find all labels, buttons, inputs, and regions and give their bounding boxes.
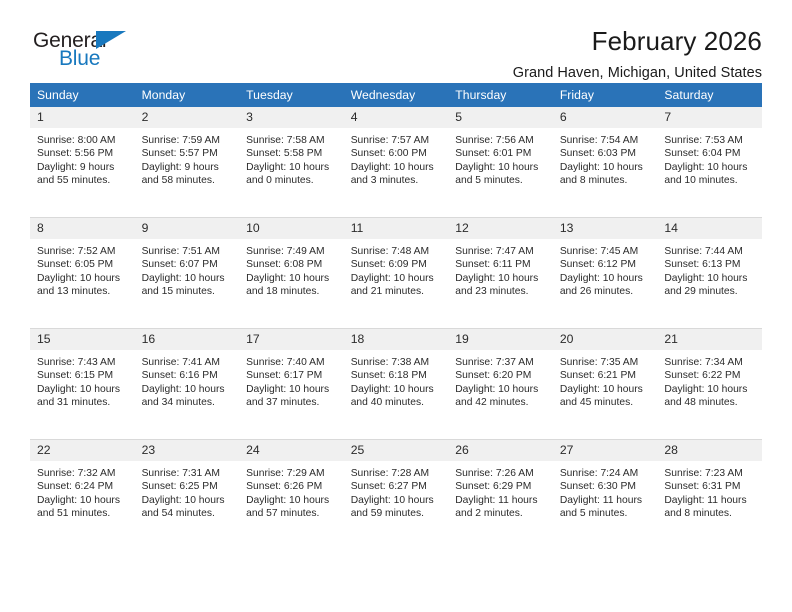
daylight-duration: Daylight: 10 hours and 26 minutes.	[560, 272, 652, 299]
day-number: 21	[657, 329, 762, 350]
day-details: Sunrise: 7:45 AM Sunset: 6:12 PM Dayligh…	[553, 239, 658, 298]
daylight-duration: Daylight: 9 hours and 55 minutes.	[37, 161, 129, 188]
day-cell[interactable]: 2 Sunrise: 7:59 AM Sunset: 5:57 PM Dayli…	[135, 107, 240, 218]
daylight-duration: Daylight: 10 hours and 29 minutes.	[664, 272, 756, 299]
sunset-time: Sunset: 6:29 PM	[455, 480, 547, 493]
day-details: Sunrise: 7:48 AM Sunset: 6:09 PM Dayligh…	[344, 239, 449, 298]
day-number: 13	[553, 218, 658, 239]
daylight-duration: Daylight: 10 hours and 37 minutes.	[246, 383, 338, 410]
day-details: Sunrise: 7:32 AM Sunset: 6:24 PM Dayligh…	[30, 461, 135, 520]
day-cell[interactable]: 6 Sunrise: 7:54 AM Sunset: 6:03 PM Dayli…	[553, 107, 658, 218]
daylight-duration: Daylight: 10 hours and 54 minutes.	[142, 494, 234, 521]
day-details: Sunrise: 7:29 AM Sunset: 6:26 PM Dayligh…	[239, 461, 344, 520]
day-details: Sunrise: 7:54 AM Sunset: 6:03 PM Dayligh…	[553, 128, 658, 187]
day-number: 9	[135, 218, 240, 239]
day-cell[interactable]: 18 Sunrise: 7:38 AM Sunset: 6:18 PM Dayl…	[344, 329, 449, 440]
day-number: 2	[135, 107, 240, 128]
day-details: Sunrise: 7:40 AM Sunset: 6:17 PM Dayligh…	[239, 350, 344, 409]
sunrise-time: Sunrise: 7:56 AM	[455, 134, 547, 147]
day-cell[interactable]: 4 Sunrise: 7:57 AM Sunset: 6:00 PM Dayli…	[344, 107, 449, 218]
sunset-time: Sunset: 6:22 PM	[664, 369, 756, 382]
sunrise-time: Sunrise: 7:43 AM	[37, 356, 129, 369]
day-number: 23	[135, 440, 240, 461]
sunset-time: Sunset: 6:20 PM	[455, 369, 547, 382]
day-details: Sunrise: 7:31 AM Sunset: 6:25 PM Dayligh…	[135, 461, 240, 520]
daylight-duration: Daylight: 10 hours and 10 minutes.	[664, 161, 756, 188]
sunset-time: Sunset: 6:15 PM	[37, 369, 129, 382]
day-cell[interactable]: 28 Sunrise: 7:23 AM Sunset: 6:31 PM Dayl…	[657, 440, 762, 551]
day-cell[interactable]: 13 Sunrise: 7:45 AM Sunset: 6:12 PM Dayl…	[553, 218, 658, 329]
day-cell[interactable]: 15 Sunrise: 7:43 AM Sunset: 6:15 PM Dayl…	[30, 329, 135, 440]
sunrise-time: Sunrise: 7:45 AM	[560, 245, 652, 258]
day-number: 16	[135, 329, 240, 350]
day-details: Sunrise: 7:44 AM Sunset: 6:13 PM Dayligh…	[657, 239, 762, 298]
day-number: 18	[344, 329, 449, 350]
sunset-time: Sunset: 6:09 PM	[351, 258, 443, 271]
sunset-time: Sunset: 6:31 PM	[664, 480, 756, 493]
day-details: Sunrise: 7:24 AM Sunset: 6:30 PM Dayligh…	[553, 461, 658, 520]
calendar-week-row: 22 Sunrise: 7:32 AM Sunset: 6:24 PM Dayl…	[30, 440, 762, 551]
day-cell[interactable]: 3 Sunrise: 7:58 AM Sunset: 5:58 PM Dayli…	[239, 107, 344, 218]
daylight-duration: Daylight: 10 hours and 15 minutes.	[142, 272, 234, 299]
sunset-time: Sunset: 6:26 PM	[246, 480, 338, 493]
day-details: Sunrise: 7:35 AM Sunset: 6:21 PM Dayligh…	[553, 350, 658, 409]
day-number: 6	[553, 107, 658, 128]
title-block: February 2026 Grand Haven, Michigan, Uni…	[513, 28, 762, 81]
daylight-duration: Daylight: 10 hours and 45 minutes.	[560, 383, 652, 410]
day-number: 14	[657, 218, 762, 239]
daylight-duration: Daylight: 11 hours and 2 minutes.	[455, 494, 547, 521]
day-details: Sunrise: 7:26 AM Sunset: 6:29 PM Dayligh…	[448, 461, 553, 520]
daylight-duration: Daylight: 9 hours and 58 minutes.	[142, 161, 234, 188]
sunset-time: Sunset: 6:11 PM	[455, 258, 547, 271]
sunrise-time: Sunrise: 7:51 AM	[142, 245, 234, 258]
daylight-duration: Daylight: 10 hours and 59 minutes.	[351, 494, 443, 521]
sunset-time: Sunset: 6:17 PM	[246, 369, 338, 382]
calendar-page: General Blue February 2026 Grand Haven, …	[0, 0, 792, 612]
day-number: 20	[553, 329, 658, 350]
daylight-duration: Daylight: 10 hours and 18 minutes.	[246, 272, 338, 299]
day-cell[interactable]: 14 Sunrise: 7:44 AM Sunset: 6:13 PM Dayl…	[657, 218, 762, 329]
weekday-header-thursday: Thursday	[448, 83, 553, 107]
day-details: Sunrise: 7:49 AM Sunset: 6:08 PM Dayligh…	[239, 239, 344, 298]
sunrise-time: Sunrise: 7:32 AM	[37, 467, 129, 480]
sunset-time: Sunset: 6:07 PM	[142, 258, 234, 271]
day-details: Sunrise: 8:00 AM Sunset: 5:56 PM Dayligh…	[30, 128, 135, 187]
sunrise-time: Sunrise: 7:57 AM	[351, 134, 443, 147]
sunset-time: Sunset: 6:16 PM	[142, 369, 234, 382]
sunset-time: Sunset: 6:24 PM	[37, 480, 129, 493]
day-details: Sunrise: 7:38 AM Sunset: 6:18 PM Dayligh…	[344, 350, 449, 409]
day-details: Sunrise: 7:23 AM Sunset: 6:31 PM Dayligh…	[657, 461, 762, 520]
day-number: 8	[30, 218, 135, 239]
weekday-header-tuesday: Tuesday	[239, 83, 344, 107]
weekday-header-monday: Monday	[135, 83, 240, 107]
day-details: Sunrise: 7:53 AM Sunset: 6:04 PM Dayligh…	[657, 128, 762, 187]
sunrise-time: Sunrise: 7:48 AM	[351, 245, 443, 258]
daylight-duration: Daylight: 10 hours and 23 minutes.	[455, 272, 547, 299]
sunrise-time: Sunrise: 7:24 AM	[560, 467, 652, 480]
day-number: 10	[239, 218, 344, 239]
sunrise-time: Sunrise: 8:00 AM	[37, 134, 129, 147]
sunset-time: Sunset: 6:04 PM	[664, 147, 756, 160]
sunset-time: Sunset: 6:18 PM	[351, 369, 443, 382]
day-cell[interactable]: 1 Sunrise: 8:00 AM Sunset: 5:56 PM Dayli…	[30, 107, 135, 218]
day-cell[interactable]: 10 Sunrise: 7:49 AM Sunset: 6:08 PM Dayl…	[239, 218, 344, 329]
day-cell[interactable]: 12 Sunrise: 7:47 AM Sunset: 6:11 PM Dayl…	[448, 218, 553, 329]
location-subtitle: Grand Haven, Michigan, United States	[513, 65, 762, 81]
day-number: 19	[448, 329, 553, 350]
day-details: Sunrise: 7:43 AM Sunset: 6:15 PM Dayligh…	[30, 350, 135, 409]
sunset-time: Sunset: 6:27 PM	[351, 480, 443, 493]
sunset-time: Sunset: 6:30 PM	[560, 480, 652, 493]
sunrise-time: Sunrise: 7:44 AM	[664, 245, 756, 258]
day-number: 7	[657, 107, 762, 128]
daylight-duration: Daylight: 10 hours and 48 minutes.	[664, 383, 756, 410]
day-cell[interactable]: 20 Sunrise: 7:35 AM Sunset: 6:21 PM Dayl…	[553, 329, 658, 440]
sunset-time: Sunset: 6:13 PM	[664, 258, 756, 271]
sunrise-time: Sunrise: 7:38 AM	[351, 356, 443, 369]
sunset-time: Sunset: 5:57 PM	[142, 147, 234, 160]
sunset-time: Sunset: 6:01 PM	[455, 147, 547, 160]
sunrise-time: Sunrise: 7:28 AM	[351, 467, 443, 480]
day-number: 26	[448, 440, 553, 461]
daylight-duration: Daylight: 10 hours and 13 minutes.	[37, 272, 129, 299]
day-details: Sunrise: 7:37 AM Sunset: 6:20 PM Dayligh…	[448, 350, 553, 409]
sunset-time: Sunset: 6:12 PM	[560, 258, 652, 271]
day-cell[interactable]: 27 Sunrise: 7:24 AM Sunset: 6:30 PM Dayl…	[553, 440, 658, 551]
daylight-duration: Daylight: 10 hours and 42 minutes.	[455, 383, 547, 410]
sunrise-time: Sunrise: 7:58 AM	[246, 134, 338, 147]
day-cell[interactable]: 11 Sunrise: 7:48 AM Sunset: 6:09 PM Dayl…	[344, 218, 449, 329]
day-details: Sunrise: 7:52 AM Sunset: 6:05 PM Dayligh…	[30, 239, 135, 298]
day-cell[interactable]: 5 Sunrise: 7:56 AM Sunset: 6:01 PM Dayli…	[448, 107, 553, 218]
daylight-duration: Daylight: 10 hours and 21 minutes.	[351, 272, 443, 299]
day-number: 25	[344, 440, 449, 461]
sunrise-time: Sunrise: 7:41 AM	[142, 356, 234, 369]
daylight-duration: Daylight: 11 hours and 5 minutes.	[560, 494, 652, 521]
sunrise-time: Sunrise: 7:31 AM	[142, 467, 234, 480]
day-cell[interactable]: 26 Sunrise: 7:26 AM Sunset: 6:29 PM Dayl…	[448, 440, 553, 551]
sunset-time: Sunset: 6:25 PM	[142, 480, 234, 493]
day-cell[interactable]: 22 Sunrise: 7:32 AM Sunset: 6:24 PM Dayl…	[30, 440, 135, 551]
daylight-duration: Daylight: 10 hours and 8 minutes.	[560, 161, 652, 188]
weekday-header-sunday: Sunday	[30, 83, 135, 107]
day-details: Sunrise: 7:56 AM Sunset: 6:01 PM Dayligh…	[448, 128, 553, 187]
day-details: Sunrise: 7:28 AM Sunset: 6:27 PM Dayligh…	[344, 461, 449, 520]
sunset-time: Sunset: 5:56 PM	[37, 147, 129, 160]
day-details: Sunrise: 7:51 AM Sunset: 6:07 PM Dayligh…	[135, 239, 240, 298]
daylight-duration: Daylight: 11 hours and 8 minutes.	[664, 494, 756, 521]
sunrise-time: Sunrise: 7:34 AM	[664, 356, 756, 369]
weekday-header-wednesday: Wednesday	[344, 83, 449, 107]
day-cell[interactable]: 8 Sunrise: 7:52 AM Sunset: 6:05 PM Dayli…	[30, 218, 135, 329]
daylight-duration: Daylight: 10 hours and 57 minutes.	[246, 494, 338, 521]
day-number: 3	[239, 107, 344, 128]
day-number: 22	[30, 440, 135, 461]
daylight-duration: Daylight: 10 hours and 40 minutes.	[351, 383, 443, 410]
weekday-header-row: Sunday Monday Tuesday Wednesday Thursday…	[30, 83, 762, 107]
day-cell[interactable]: 9 Sunrise: 7:51 AM Sunset: 6:07 PM Dayli…	[135, 218, 240, 329]
sunrise-time: Sunrise: 7:29 AM	[246, 467, 338, 480]
sunrise-time: Sunrise: 7:23 AM	[664, 467, 756, 480]
day-cell[interactable]: 16 Sunrise: 7:41 AM Sunset: 6:16 PM Dayl…	[135, 329, 240, 440]
sunrise-time: Sunrise: 7:53 AM	[664, 134, 756, 147]
day-cell[interactable]: 21 Sunrise: 7:34 AM Sunset: 6:22 PM Dayl…	[657, 329, 762, 440]
day-number: 5	[448, 107, 553, 128]
page-header: General Blue February 2026 Grand Haven, …	[30, 0, 762, 72]
daylight-duration: Daylight: 10 hours and 34 minutes.	[142, 383, 234, 410]
day-details: Sunrise: 7:57 AM Sunset: 6:00 PM Dayligh…	[344, 128, 449, 187]
daylight-duration: Daylight: 10 hours and 31 minutes.	[37, 383, 129, 410]
daylight-duration: Daylight: 10 hours and 0 minutes.	[246, 161, 338, 188]
daylight-duration: Daylight: 10 hours and 3 minutes.	[351, 161, 443, 188]
day-number: 15	[30, 329, 135, 350]
day-cell[interactable]: 25 Sunrise: 7:28 AM Sunset: 6:27 PM Dayl…	[344, 440, 449, 551]
day-number: 24	[239, 440, 344, 461]
sunrise-time: Sunrise: 7:49 AM	[246, 245, 338, 258]
day-details: Sunrise: 7:47 AM Sunset: 6:11 PM Dayligh…	[448, 239, 553, 298]
page-title: February 2026	[513, 28, 762, 55]
day-details: Sunrise: 7:41 AM Sunset: 6:16 PM Dayligh…	[135, 350, 240, 409]
sunrise-time: Sunrise: 7:26 AM	[455, 467, 547, 480]
generalblue-logo[interactable]: General Blue	[30, 28, 150, 74]
sunset-time: Sunset: 6:21 PM	[560, 369, 652, 382]
calendar-week-row: 1 Sunrise: 8:00 AM Sunset: 5:56 PM Dayli…	[30, 107, 762, 218]
day-cell[interactable]: 19 Sunrise: 7:37 AM Sunset: 6:20 PM Dayl…	[448, 329, 553, 440]
day-cell[interactable]: 7 Sunrise: 7:53 AM Sunset: 6:04 PM Dayli…	[657, 107, 762, 218]
day-number: 4	[344, 107, 449, 128]
day-cell[interactable]: 23 Sunrise: 7:31 AM Sunset: 6:25 PM Dayl…	[135, 440, 240, 551]
day-details: Sunrise: 7:58 AM Sunset: 5:58 PM Dayligh…	[239, 128, 344, 187]
day-number: 28	[657, 440, 762, 461]
sunrise-time: Sunrise: 7:40 AM	[246, 356, 338, 369]
sunset-time: Sunset: 5:58 PM	[246, 147, 338, 160]
day-number: 17	[239, 329, 344, 350]
sunrise-time: Sunrise: 7:37 AM	[455, 356, 547, 369]
calendar-week-row: 15 Sunrise: 7:43 AM Sunset: 6:15 PM Dayl…	[30, 329, 762, 440]
sunset-time: Sunset: 6:08 PM	[246, 258, 338, 271]
daylight-duration: Daylight: 10 hours and 51 minutes.	[37, 494, 129, 521]
day-cell[interactable]: 17 Sunrise: 7:40 AM Sunset: 6:17 PM Dayl…	[239, 329, 344, 440]
logo-text-blue: Blue	[59, 48, 100, 69]
sunset-time: Sunset: 6:05 PM	[37, 258, 129, 271]
sunrise-time: Sunrise: 7:54 AM	[560, 134, 652, 147]
logo-triangle-icon	[96, 31, 126, 49]
day-number: 12	[448, 218, 553, 239]
day-cell[interactable]: 24 Sunrise: 7:29 AM Sunset: 6:26 PM Dayl…	[239, 440, 344, 551]
sunrise-time: Sunrise: 7:52 AM	[37, 245, 129, 258]
sunset-time: Sunset: 6:03 PM	[560, 147, 652, 160]
sunrise-time: Sunrise: 7:47 AM	[455, 245, 547, 258]
sunrise-time: Sunrise: 7:35 AM	[560, 356, 652, 369]
weekday-header-saturday: Saturday	[657, 83, 762, 107]
day-number: 11	[344, 218, 449, 239]
sunrise-time: Sunrise: 7:59 AM	[142, 134, 234, 147]
daylight-duration: Daylight: 10 hours and 5 minutes.	[455, 161, 547, 188]
day-details: Sunrise: 7:59 AM Sunset: 5:57 PM Dayligh…	[135, 128, 240, 187]
day-number: 1	[30, 107, 135, 128]
weekday-header-friday: Friday	[553, 83, 658, 107]
sunrise-sunset-calendar: Sunday Monday Tuesday Wednesday Thursday…	[30, 83, 762, 550]
day-number: 27	[553, 440, 658, 461]
sunset-time: Sunset: 6:00 PM	[351, 147, 443, 160]
day-details: Sunrise: 7:34 AM Sunset: 6:22 PM Dayligh…	[657, 350, 762, 409]
calendar-week-row: 8 Sunrise: 7:52 AM Sunset: 6:05 PM Dayli…	[30, 218, 762, 329]
